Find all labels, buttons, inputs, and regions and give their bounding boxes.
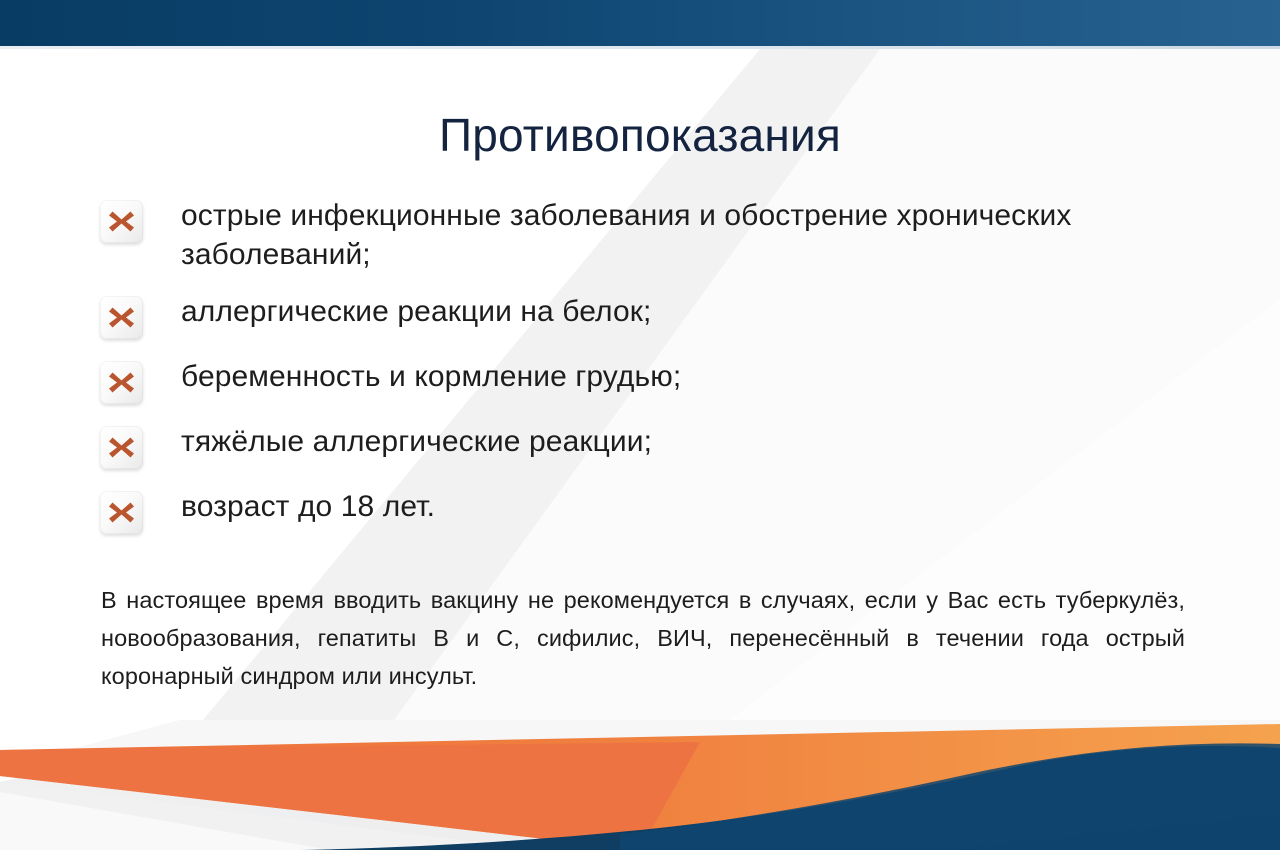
list-item-label: беременность и кормление грудью; bbox=[181, 357, 681, 396]
list-item-label: возраст до 18 лет. bbox=[181, 487, 435, 526]
x-mark-icon bbox=[100, 491, 143, 534]
list-item: тяжёлые аллергические реакции; bbox=[100, 422, 1180, 469]
x-mark-icon bbox=[100, 200, 143, 243]
x-mark-icon bbox=[100, 296, 143, 339]
top-banner-bar bbox=[0, 0, 1280, 46]
list-item: беременность и кормление грудью; bbox=[100, 357, 1180, 404]
list-item-label: аллергические реакции на белок; bbox=[181, 292, 651, 331]
list-item: острые инфекционные заболевания и обостр… bbox=[100, 196, 1180, 274]
list-item-label: тяжёлые аллергические реакции; bbox=[181, 422, 652, 461]
list-item-label: острые инфекционные заболевания и обостр… bbox=[181, 196, 1180, 274]
slide-root: Противопоказания острые инфекционные заб… bbox=[0, 0, 1280, 850]
x-mark-icon bbox=[100, 426, 143, 469]
page-title: Противопоказания bbox=[0, 108, 1280, 162]
list-item: аллергические реакции на белок; bbox=[100, 292, 1180, 339]
top-banner-underline bbox=[0, 46, 1280, 49]
footnote-paragraph: В настоящее время вводить вакцину не рек… bbox=[101, 581, 1185, 695]
bottom-decorative-art bbox=[0, 720, 1280, 850]
contraindications-list: острые инфекционные заболевания и обостр… bbox=[100, 196, 1180, 552]
list-item: возраст до 18 лет. bbox=[100, 487, 1180, 534]
x-mark-icon bbox=[100, 361, 143, 404]
